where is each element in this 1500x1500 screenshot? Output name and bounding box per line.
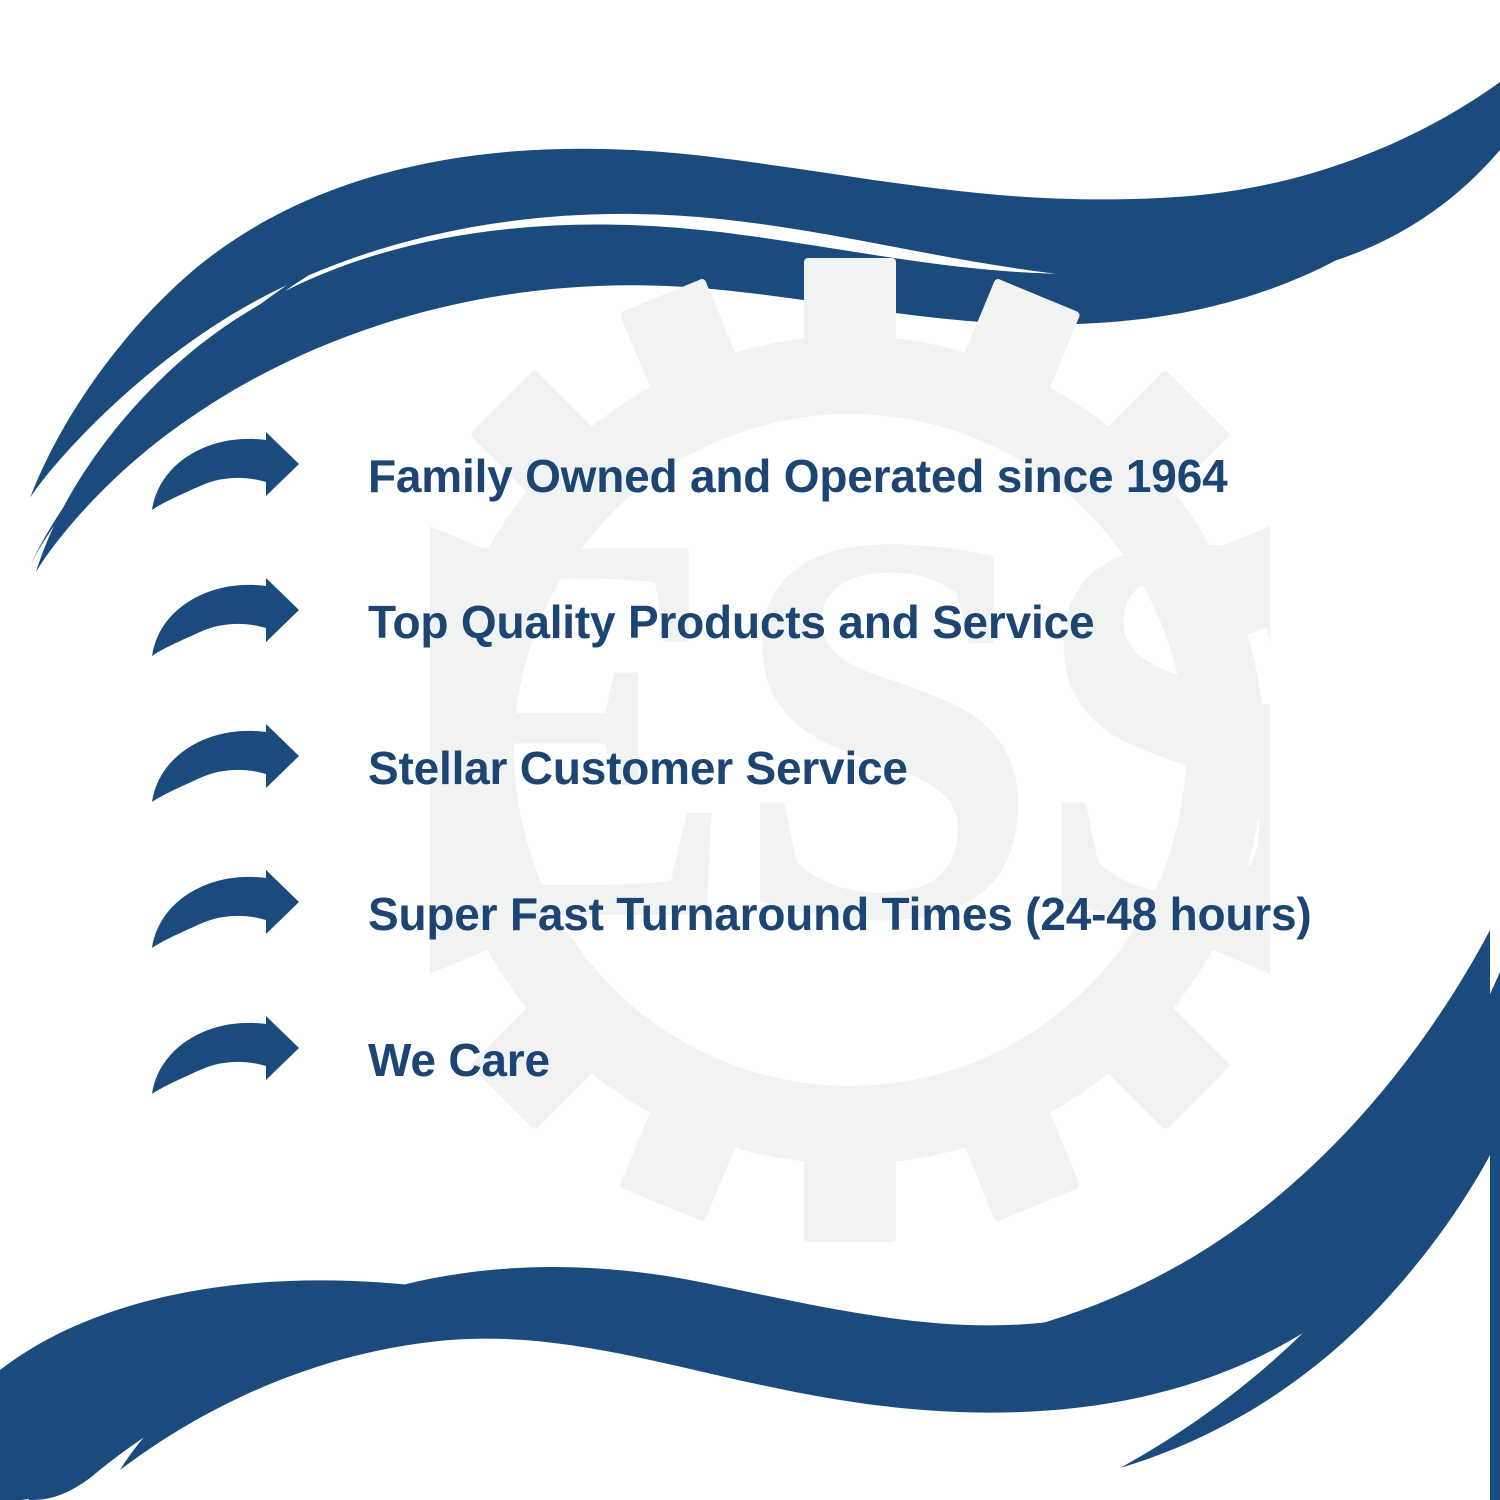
list-item-label: Family Owned and Operated since 1964 <box>368 449 1227 503</box>
list-item: Stellar Customer Service <box>150 724 1450 812</box>
benefits-list: Family Owned and Operated since 1964 Top… <box>150 432 1450 1104</box>
list-item: Top Quality Products and Service <box>150 578 1450 666</box>
curved-arrow-right-icon <box>150 870 300 958</box>
page-title: WHY SHOP WITH US <box>105 22 1395 116</box>
curved-arrow-right-icon <box>150 1016 300 1104</box>
curved-arrow-right-icon <box>150 724 300 812</box>
curved-arrow-right-icon <box>150 432 300 520</box>
list-item-label: We Care <box>368 1033 550 1087</box>
list-item: We Care <box>150 1016 1450 1104</box>
list-item: Family Owned and Operated since 1964 <box>150 432 1450 520</box>
curved-arrow-right-icon <box>150 578 300 666</box>
list-item: Super Fast Turnaround Times (24-48 hours… <box>150 870 1450 958</box>
list-item-label: Stellar Customer Service <box>368 741 908 795</box>
list-item-label: Super Fast Turnaround Times (24-48 hours… <box>368 887 1312 941</box>
list-item-label: Top Quality Products and Service <box>368 595 1094 649</box>
promo-graphic: ESS WHY SHOP WITH US Family Owned and Op… <box>0 0 1500 1500</box>
